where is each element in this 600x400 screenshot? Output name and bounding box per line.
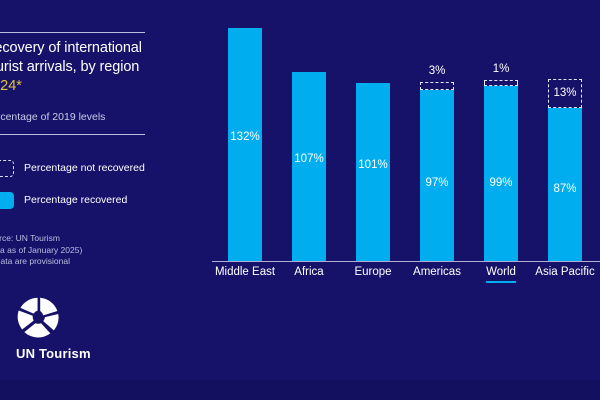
- bar-segment-recovered[interactable]: 99%: [484, 86, 518, 261]
- footer-strip: [0, 380, 600, 400]
- bar-value-not-recovered: 13%: [553, 87, 576, 99]
- legend-item-not-recovered: Percentage not recovered: [0, 157, 162, 179]
- bar-segment-recovered[interactable]: 87%: [548, 108, 582, 261]
- bar-group-europe[interactable]: 101%: [356, 83, 390, 261]
- source-line-3: All data are provisional: [0, 256, 162, 268]
- legend-label-not-recovered: Percentage not recovered: [24, 162, 145, 174]
- title-rule-bottom: [0, 134, 145, 135]
- bar-value-recovered: 97%: [425, 177, 448, 189]
- bar-group-africa[interactable]: 107%: [292, 72, 326, 261]
- bar-value-recovered: 87%: [553, 183, 576, 195]
- bar-value-not-recovered: 1%: [493, 63, 510, 75]
- bar-column: 101%: [356, 83, 390, 261]
- bar-group-world[interactable]: 1% 99%: [484, 80, 518, 261]
- bar-value-recovered: 101%: [358, 159, 387, 171]
- bar-column: 107%: [292, 72, 326, 261]
- x-label-africa: Africa: [294, 266, 323, 281]
- x-label-middle-east: Middle East: [215, 266, 275, 281]
- x-label-world: World: [486, 266, 516, 283]
- legend-label-recovered: Percentage recovered: [24, 194, 127, 206]
- x-label-europe: Europe: [354, 266, 391, 281]
- x-label-americas: Americas: [413, 266, 461, 281]
- legend-swatch-dashed-icon: [0, 160, 14, 177]
- title-block: Recovery of international tourist arriva…: [0, 33, 162, 124]
- bar-segment-not-recovered[interactable]: 3%: [420, 82, 454, 90]
- bar-chart: 132% 107% 101%: [206, 0, 600, 400]
- bar-segment-recovered[interactable]: 101%: [356, 83, 390, 261]
- bar-group-asia-pacific[interactable]: 13% 87%: [548, 79, 582, 261]
- page-title-line-1: Recovery of international: [0, 39, 162, 58]
- bar-column: 3% 97%: [420, 82, 454, 261]
- x-axis-line: [212, 261, 600, 263]
- bar-segment-not-recovered[interactable]: 13%: [548, 79, 582, 108]
- page-subtitle: Percentage of 2019 levels: [0, 110, 162, 124]
- chart-legend: Percentage not recovered Percentage reco…: [0, 157, 162, 211]
- brand-name: UN Tourism: [16, 346, 176, 361]
- page-title-line-2: tourist arrivals, by region: [0, 58, 162, 77]
- x-label-asia-pacific: Asia Pacific: [535, 266, 594, 281]
- chart-plot-area: 132% 107% 101%: [206, 0, 600, 262]
- legend-item-recovered: Percentage recovered: [0, 189, 162, 211]
- bar-column: 13% 87%: [548, 79, 582, 261]
- bar-value-recovered: 107%: [294, 153, 323, 165]
- source-note: Source: UN Tourism (Data as of January 2…: [0, 233, 162, 268]
- page-title-year: 2024*: [0, 77, 162, 96]
- bar-segment-recovered[interactable]: 132%: [228, 28, 262, 261]
- legend-swatch-solid-icon: [0, 192, 14, 209]
- bar-segment-recovered[interactable]: 107%: [292, 72, 326, 261]
- bar-segment-recovered[interactable]: 97%: [420, 90, 454, 261]
- un-tourism-logo-icon: [16, 296, 60, 340]
- bar-column: 132%: [228, 28, 262, 261]
- bar-value-recovered: 99%: [489, 177, 512, 189]
- source-line-1: Source: UN Tourism: [0, 233, 162, 245]
- bar-column: 1% 99%: [484, 80, 518, 261]
- bar-group-americas[interactable]: 3% 97%: [420, 82, 454, 261]
- bar-value-not-recovered: 3%: [429, 65, 446, 77]
- brand-logo-block: UN Tourism: [16, 296, 176, 361]
- bar-group-middle-east[interactable]: 132%: [228, 28, 262, 261]
- x-axis-category-labels: Middle East Africa Europe Americas World…: [206, 264, 600, 290]
- infographic-root: Recovery of international tourist arriva…: [0, 0, 600, 400]
- source-line-2: (Data as of January 2025): [0, 245, 162, 257]
- bar-value-recovered: 132%: [230, 131, 259, 143]
